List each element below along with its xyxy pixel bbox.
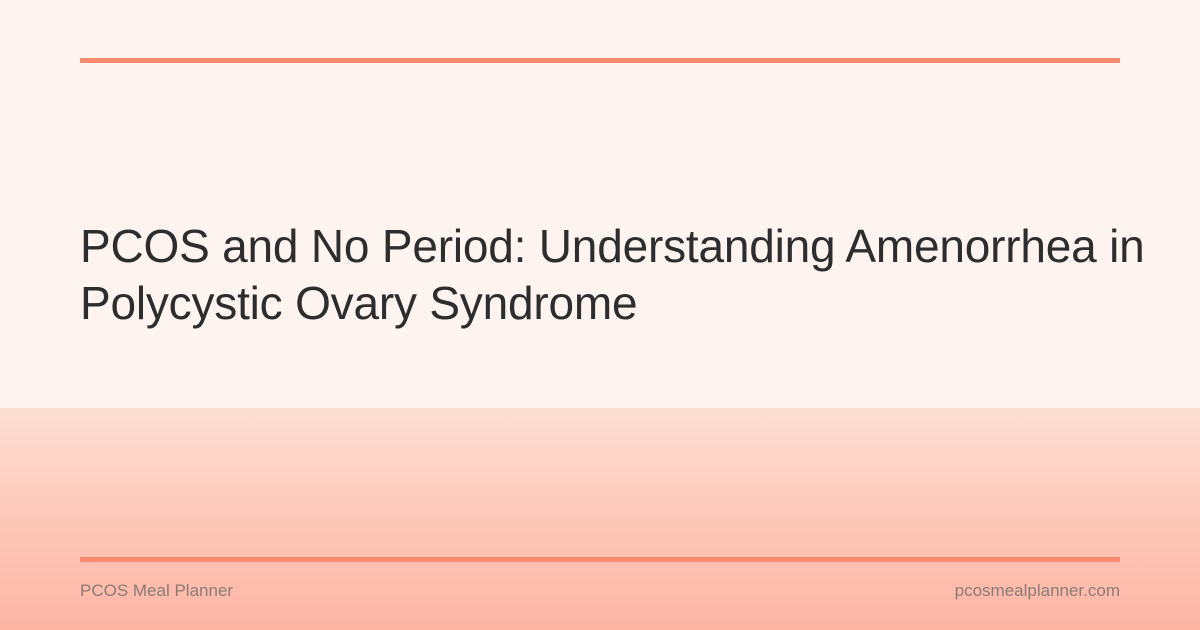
footer-site-url: pcosmealplanner.com <box>955 578 1120 604</box>
title-line-2: Polycystic Ovary Syndrome <box>80 275 1140 332</box>
page-title: PCOS and No Period: Understanding Amenor… <box>80 218 1140 332</box>
title-line-1: PCOS and No Period: Understanding Amenor… <box>80 218 1140 275</box>
top-accent-rule <box>80 58 1120 63</box>
social-share-card: PCOS and No Period: Understanding Amenor… <box>0 0 1200 630</box>
card-footer: PCOS Meal Planner pcosmealplanner.com <box>80 578 1120 604</box>
bottom-accent-rule <box>80 557 1120 562</box>
footer-brand-label: PCOS Meal Planner <box>80 578 233 604</box>
